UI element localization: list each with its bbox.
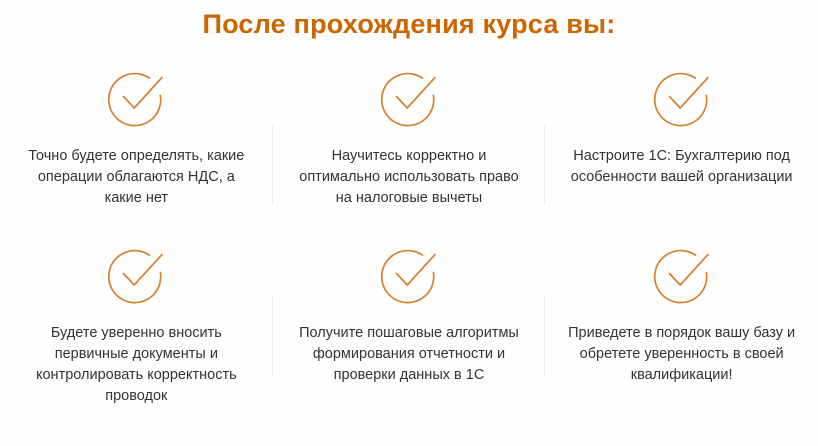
benefits-grid: Точно будете определять, какие операции …: [0, 62, 818, 407]
benefits-row-1: Точно будете определять, какие операции …: [0, 62, 818, 209]
check-circle-icon: [647, 62, 717, 132]
benefits-section: После прохождения курса вы: Точно будете…: [0, 0, 818, 446]
benefit-card-5: Получите пошаговые алгоритмы формировани…: [273, 239, 546, 407]
benefit-card-4: Будете уверенно вносить первичные докуме…: [0, 239, 273, 407]
check-circle-icon: [101, 62, 171, 132]
benefit-card-3: Настроите 1С: Бухгалтерию под особенност…: [545, 62, 818, 209]
benefit-card-6: Приведете в порядок вашу базу и обретете…: [545, 239, 818, 407]
benefit-text: Получите пошаговые алгоритмы формировани…: [294, 323, 524, 386]
check-circle-icon: [374, 62, 444, 132]
check-circle-icon: [647, 239, 717, 309]
benefit-card-2: Научитесь корректно и оптимально использ…: [273, 62, 546, 209]
benefit-card-1: Точно будете определять, какие операции …: [0, 62, 273, 209]
benefit-text: Настроите 1С: Бухгалтерию под особенност…: [567, 146, 797, 188]
benefit-text: Научитесь корректно и оптимально использ…: [294, 146, 524, 209]
benefit-text: Точно будете определять, какие операции …: [21, 146, 251, 209]
benefit-text: Будете уверенно вносить первичные докуме…: [21, 323, 251, 407]
benefits-row-2: Будете уверенно вносить первичные докуме…: [0, 239, 818, 407]
check-circle-icon: [101, 239, 171, 309]
page-title: После прохождения курса вы:: [0, 0, 818, 40]
check-circle-icon: [374, 239, 444, 309]
benefit-text: Приведете в порядок вашу базу и обретете…: [567, 323, 797, 386]
